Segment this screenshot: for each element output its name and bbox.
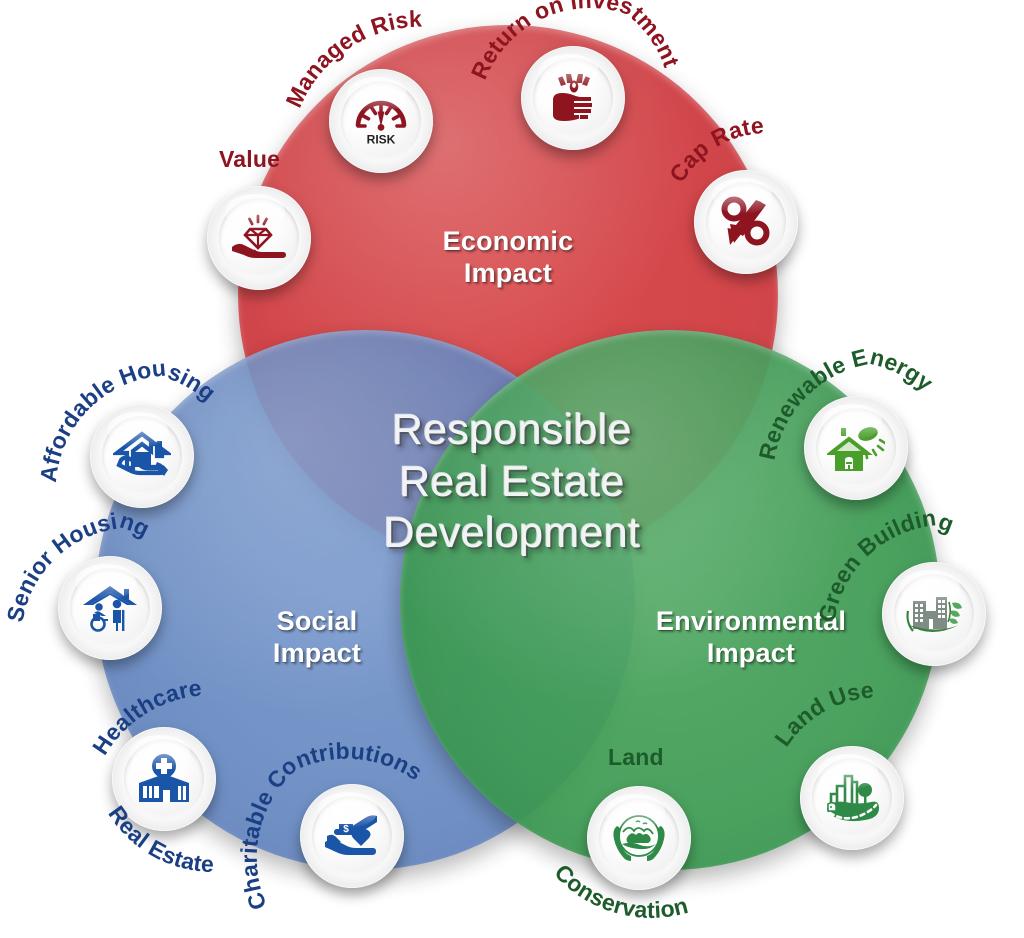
badge-value[interactable] (207, 186, 311, 290)
badge-inner (812, 758, 892, 838)
badge-inner (706, 182, 786, 262)
badge-inner (533, 58, 613, 138)
buildings-leaves-icon (905, 589, 963, 639)
badge-land-use[interactable] (800, 746, 904, 850)
badge-return-on-investment[interactable] (521, 46, 625, 150)
badge-inner (124, 739, 204, 819)
house-seniors-icon (81, 583, 139, 633)
badge-cap-rate[interactable] (694, 170, 798, 274)
venn-diagram-canvas: Economic Impact Social Impact Environmen… (0, 0, 1024, 933)
house-solar-sun-icon (827, 422, 885, 474)
lobe-label-economic: Economic Impact (388, 226, 628, 290)
badge-renewable-energy[interactable] (804, 396, 908, 500)
hand-diamond-icon (230, 214, 288, 262)
center-title: Responsible Real Estate Development (292, 405, 732, 560)
badge-healthcare-real-estate[interactable] (112, 727, 216, 831)
gauge-risk-icon: RISK (353, 96, 409, 146)
badge-inner: RISK (341, 81, 421, 161)
percent-down-arrow-icon (719, 195, 773, 249)
badge-inner (102, 416, 182, 496)
badge-inner (219, 198, 299, 278)
badge-managed-risk[interactable]: RISK (329, 69, 433, 173)
city-road-tree-icon (823, 772, 881, 824)
hands-money-heart-icon: $ (323, 812, 381, 860)
badge-affordable-housing[interactable] (90, 404, 194, 508)
flat-label-land: Land (608, 744, 664, 771)
hospital-cross-icon (135, 752, 193, 806)
svg-text:$: $ (343, 824, 349, 835)
hands-nature-globe-icon (610, 812, 668, 864)
lobe-label-environmental: Environmental Impact (606, 606, 896, 670)
badge-inner: $ (312, 796, 392, 876)
house-in-hand-icon (113, 430, 171, 482)
lobe-label-social: Social Impact (222, 606, 412, 670)
badge-inner (599, 798, 679, 878)
badge-charitable-contributions[interactable]: $ (300, 784, 404, 888)
badge-inner (70, 568, 150, 648)
badge-land-conservation[interactable] (587, 786, 691, 890)
badge-inner-text: RISK (367, 133, 396, 147)
badge-inner (894, 574, 974, 654)
hand-coin-icon (544, 72, 602, 124)
badge-green-building[interactable] (882, 562, 986, 666)
badge-inner (816, 408, 896, 488)
flat-label-value: Value (219, 146, 280, 173)
badge-senior-housing[interactable] (58, 556, 162, 660)
